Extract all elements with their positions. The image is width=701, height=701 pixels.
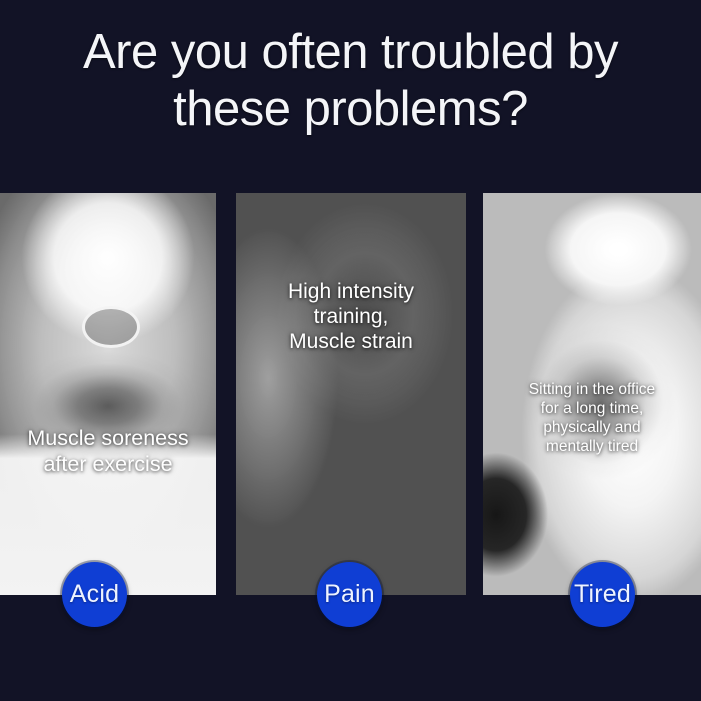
promo-poster: Are you often troubled by these problems… xyxy=(0,0,701,701)
badge-acid[interactable]: Acid xyxy=(62,562,127,627)
muscle-strain-photo xyxy=(236,193,466,595)
badge-tired[interactable]: Tired xyxy=(570,562,635,627)
problem-panels: Muscle soreness after exercise High inte… xyxy=(0,193,701,595)
panel-muscle-strain[interactable]: High intensity training, Muscle strain xyxy=(236,193,466,595)
muscle-soreness-photo xyxy=(0,193,216,595)
office-fatigue-photo xyxy=(483,193,701,595)
panel-muscle-soreness[interactable]: Muscle soreness after exercise xyxy=(0,193,216,595)
page-title: Are you often troubled by these problems… xyxy=(0,24,701,138)
badge-pain[interactable]: Pain xyxy=(317,562,382,627)
panel-office-fatigue[interactable]: Sitting in the office for a long time, p… xyxy=(483,193,701,595)
